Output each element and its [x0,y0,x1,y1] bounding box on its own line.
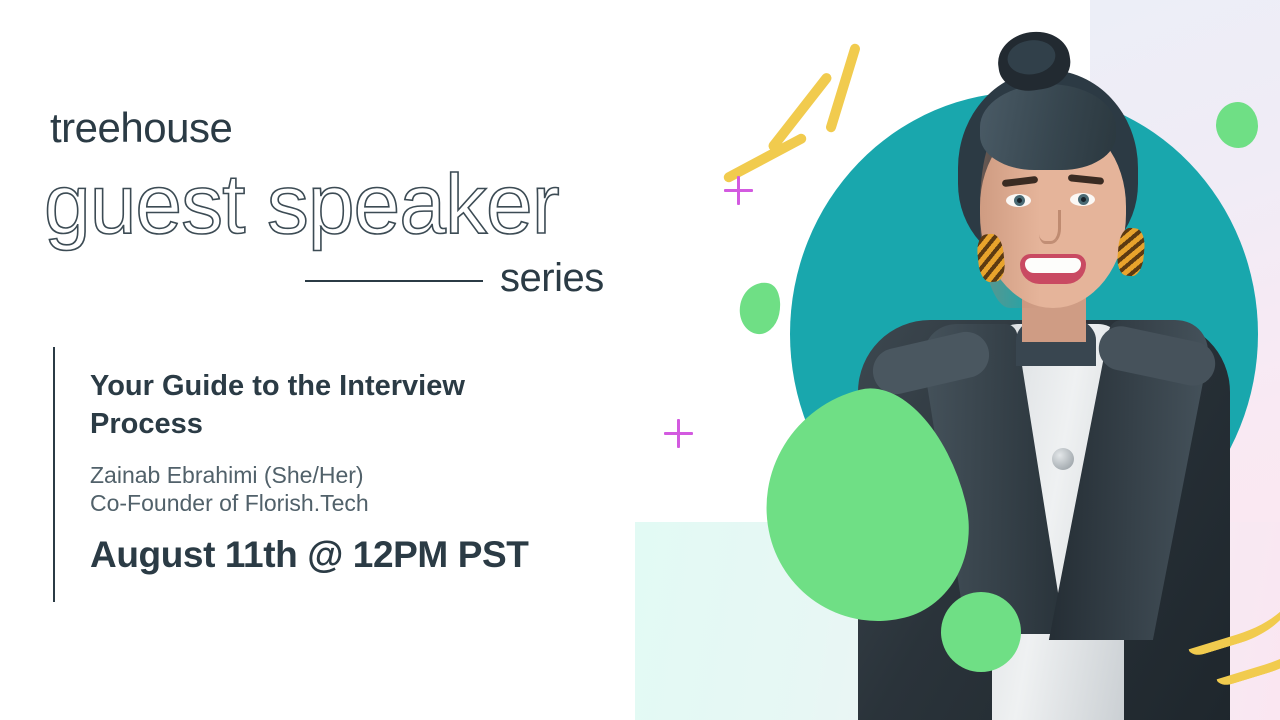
promo-slide: treehouse guest speaker series Your Guid… [0,0,1280,720]
brand-wordmark: treehouse [50,107,232,149]
speaker-role: Co-Founder of Florish.Tech [90,488,369,519]
eye-left [1006,194,1031,207]
speaker-name: Zainab Ebrahimi (She/Her) [90,460,364,491]
headline-outline: guest speaker [44,162,559,246]
accent-vertical-bar [53,347,55,602]
text-content: treehouse guest speaker series Your Guid… [0,0,660,720]
eye-right [1070,193,1095,206]
earring-right [1116,227,1146,277]
plus-icon [724,176,753,205]
jacket-snap-button [1052,448,1074,470]
series-divider [305,280,483,282]
talk-title: Your Guide to the Interview Process [90,368,510,443]
green-blob-small [735,278,785,337]
plus-icon [664,419,693,448]
mouth [1020,254,1086,284]
event-datetime: August 11th @ 12PM PST [90,533,528,577]
series-label: series [500,256,604,300]
series-row: series [305,256,625,306]
teeth [1025,258,1081,273]
hair-sheen [980,84,1116,170]
green-blob-circle [941,592,1021,672]
nose [1039,210,1061,244]
